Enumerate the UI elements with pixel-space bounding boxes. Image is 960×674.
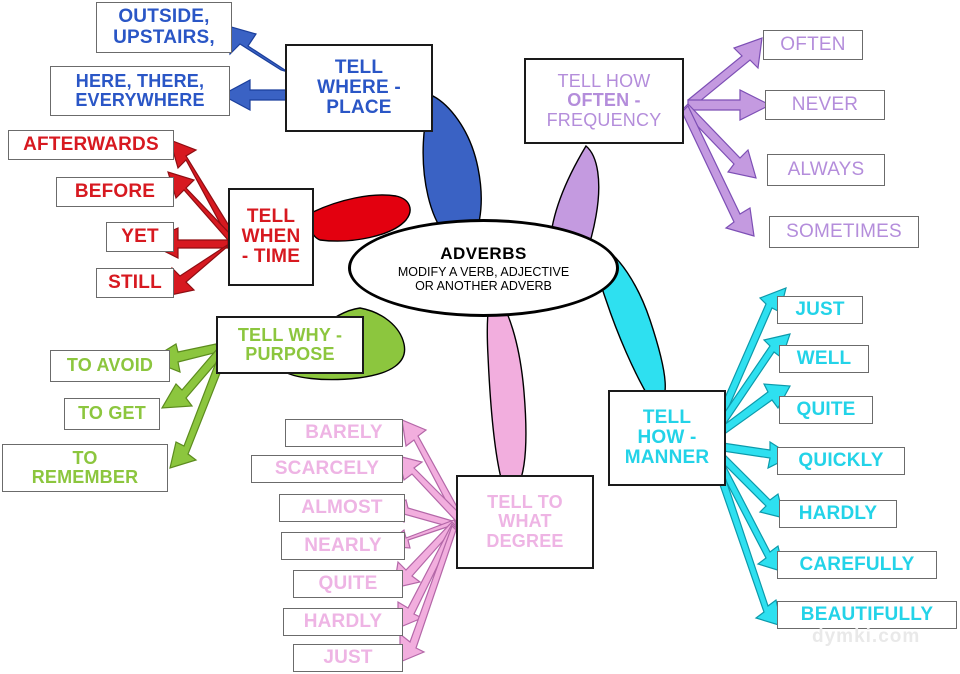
- leaf-time-0-line-1: AFTERWARDS: [23, 135, 159, 155]
- leaf-degree-5-line-1: HARDLY: [304, 612, 383, 632]
- leaf-purpose-to-avoid[interactable]: TO AVOID: [50, 350, 170, 382]
- hub-tell-how-manner[interactable]: TELL HOW - MANNER: [608, 390, 726, 486]
- center-subtitle: MODIFY A VERB, ADJECTIVE OR ANOTHER ADVE…: [398, 265, 569, 293]
- leaf-purpose-2-line-2: REMEMBER: [32, 468, 139, 487]
- leaf-purpose-2-line-1: TO: [32, 449, 139, 468]
- leaf-manner-well[interactable]: WELL: [779, 345, 869, 373]
- leaf-purpose-0-line-1: TO AVOID: [67, 356, 153, 375]
- leaf-time-before[interactable]: BEFORE: [56, 177, 174, 207]
- petal-degree: [487, 292, 526, 486]
- leaf-degree-1-line-1: SCARCELY: [275, 459, 379, 479]
- leaf-time-yet[interactable]: YET: [106, 222, 174, 252]
- leaf-place-0-line-1: OUTSIDE,: [113, 7, 215, 27]
- leaf-frequency-2-line-1: ALWAYS: [788, 160, 865, 180]
- leaf-place-1-line-2: EVERYWHERE: [75, 91, 204, 110]
- leaf-degree-just[interactable]: JUST: [293, 644, 403, 672]
- leaf-degree-barely[interactable]: BARELY: [285, 419, 403, 447]
- leaf-manner-carefully[interactable]: CAREFULLY: [777, 551, 937, 579]
- leaf-place-1-line-1: HERE, THERE,: [75, 72, 204, 91]
- center-title: ADVERBS: [440, 244, 527, 264]
- leaf-frequency-always[interactable]: ALWAYS: [767, 154, 885, 186]
- leaf-purpose-1-line-1: TO GET: [78, 404, 146, 423]
- leaf-frequency-0-line-1: OFTEN: [780, 35, 845, 55]
- hub-frequency-line-1: TELL HOW: [547, 72, 662, 91]
- hub-manner-line-2: HOW -: [625, 428, 710, 448]
- hub-tell-why-purpose[interactable]: TELL WHY - PURPOSE: [216, 316, 364, 374]
- leaf-manner-1-line-1: WELL: [797, 349, 852, 369]
- adverbs-mind-map: ADVERBS MODIFY A VERB, ADJECTIVE OR ANOT…: [0, 0, 960, 674]
- leaf-time-afterwards[interactable]: AFTERWARDS: [8, 130, 174, 160]
- leaf-degree-3-line-1: NEARLY: [304, 536, 382, 556]
- center-subtitle-line-1: MODIFY A VERB, ADJECTIVE: [398, 265, 569, 279]
- leaf-manner-2-line-1: QUITE: [796, 400, 855, 420]
- hub-place-line-2: WHERE -: [317, 78, 401, 98]
- leaf-manner-quickly[interactable]: QUICKLY: [777, 447, 905, 475]
- arrows-frequency: [682, 38, 770, 236]
- leaf-manner-5-line-1: CAREFULLY: [799, 555, 914, 575]
- leaf-purpose-to-get[interactable]: TO GET: [64, 398, 160, 430]
- leaf-time-3-line-1: STILL: [108, 273, 162, 293]
- leaf-frequency-often[interactable]: OFTEN: [763, 30, 863, 60]
- center-subtitle-line-2: OR ANOTHER ADVERB: [398, 279, 569, 293]
- leaf-degree-hardly[interactable]: HARDLY: [283, 608, 403, 636]
- hub-manner-line-1: TELL: [625, 408, 710, 428]
- leaf-manner-just[interactable]: JUST: [777, 296, 863, 324]
- leaf-purpose-to-remember[interactable]: TO REMEMBER: [2, 444, 168, 492]
- hub-frequency-line-2: OFTEN -: [547, 91, 662, 110]
- leaf-manner-hardly[interactable]: HARDLY: [779, 500, 897, 528]
- leaf-degree-2-line-1: ALMOST: [301, 498, 382, 518]
- leaf-frequency-1-line-1: NEVER: [792, 95, 858, 115]
- leaf-frequency-sometimes[interactable]: SOMETIMES: [769, 216, 919, 248]
- leaf-frequency-3-line-1: SOMETIMES: [786, 222, 902, 242]
- hub-place-line-1: TELL: [317, 58, 401, 78]
- leaf-degree-0-line-1: BARELY: [305, 423, 383, 443]
- hub-place-line-3: PLACE: [317, 98, 401, 118]
- leaf-manner-quite[interactable]: QUITE: [779, 396, 873, 424]
- hub-purpose-line-2: PURPOSE: [238, 345, 342, 364]
- hub-time-line-2: WHEN: [242, 227, 301, 247]
- leaf-manner-4-line-1: HARDLY: [799, 504, 878, 524]
- leaf-time-1-line-1: BEFORE: [75, 182, 155, 202]
- watermark: dymki.com: [812, 626, 920, 648]
- hub-manner-line-3: MANNER: [625, 448, 710, 468]
- hub-tell-where-place[interactable]: TELL WHERE - PLACE: [285, 44, 433, 132]
- leaf-frequency-never[interactable]: NEVER: [765, 90, 885, 120]
- hub-degree-line-3: DEGREE: [486, 532, 563, 551]
- hub-time-line-3: - TIME: [242, 247, 301, 267]
- leaf-time-still[interactable]: STILL: [96, 268, 174, 298]
- hub-degree-line-2: WHAT: [486, 512, 563, 531]
- leaf-time-2-line-1: YET: [121, 227, 159, 247]
- leaf-degree-4-line-1: QUITE: [318, 574, 377, 594]
- leaf-place-0-line-2: UPSTAIRS,: [113, 28, 215, 48]
- leaf-degree-scarcely[interactable]: SCARCELY: [251, 455, 403, 483]
- hub-time-line-1: TELL: [242, 207, 301, 227]
- leaf-manner-beautifully[interactable]: BEAUTIFULLY: [777, 601, 957, 629]
- center-node-adverbs: ADVERBS MODIFY A VERB, ADJECTIVE OR ANOT…: [348, 219, 619, 317]
- leaf-degree-almost[interactable]: ALMOST: [279, 494, 405, 522]
- leaf-place-here-there-everywhere[interactable]: HERE, THERE, EVERYWHERE: [50, 66, 230, 116]
- leaf-place-outside-upstairs[interactable]: OUTSIDE, UPSTAIRS,: [96, 2, 232, 53]
- leaf-degree-nearly[interactable]: NEARLY: [281, 532, 405, 560]
- leaf-degree-quite[interactable]: QUITE: [293, 570, 403, 598]
- leaf-manner-3-line-1: QUICKLY: [798, 451, 883, 471]
- leaf-degree-6-line-1: JUST: [323, 648, 372, 668]
- hub-tell-to-what-degree[interactable]: TELL TO WHAT DEGREE: [456, 475, 594, 569]
- hub-tell-when-time[interactable]: TELL WHEN - TIME: [228, 188, 314, 286]
- hub-degree-line-1: TELL TO: [486, 493, 563, 512]
- hub-purpose-line-1: TELL WHY -: [238, 326, 342, 345]
- leaf-manner-0-line-1: JUST: [795, 300, 844, 320]
- hub-tell-how-often-frequency[interactable]: TELL HOW OFTEN - FREQUENCY: [524, 58, 684, 144]
- hub-frequency-line-3: FREQUENCY: [547, 111, 662, 130]
- leaf-manner-6-line-1: BEAUTIFULLY: [801, 605, 933, 625]
